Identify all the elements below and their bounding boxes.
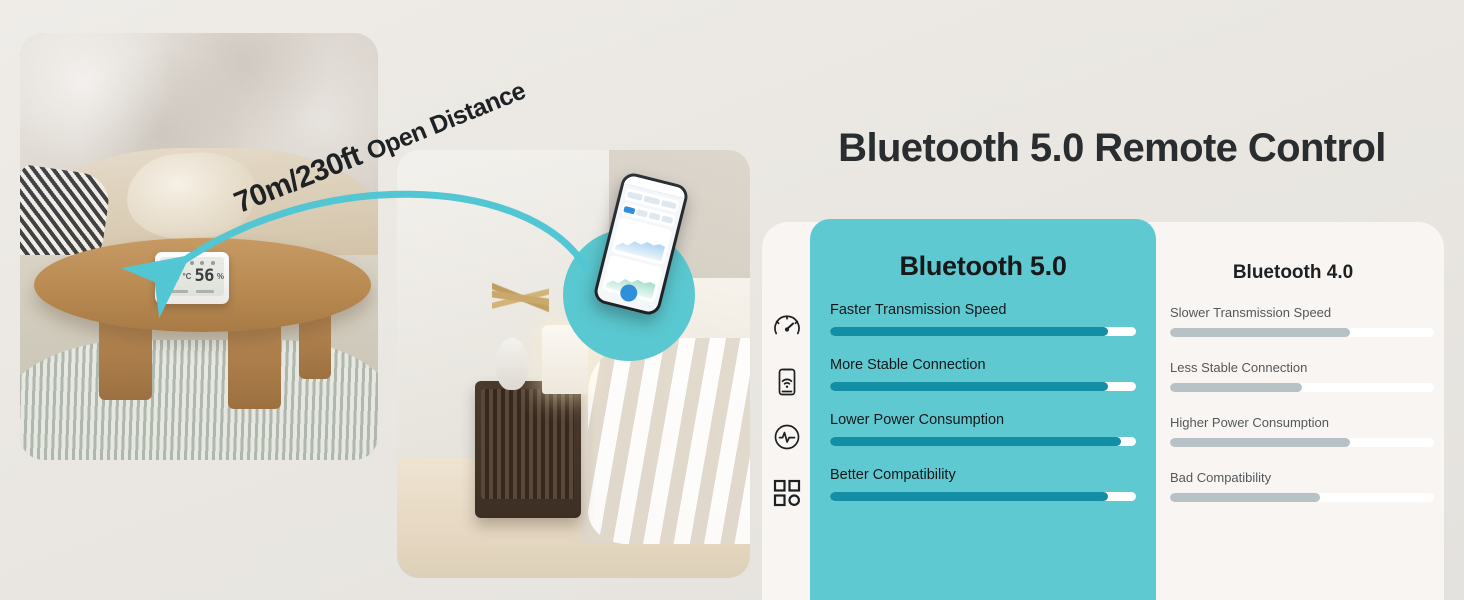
feature-row: Better Compatibility [830, 468, 1136, 523]
speedometer-icon [772, 312, 802, 342]
nightstand [475, 381, 581, 518]
feature-progress-fill [830, 382, 1108, 391]
feature-progress-track [1170, 493, 1434, 502]
feature-row: More Stable Connection [830, 358, 1136, 413]
feature-progress-track [830, 382, 1136, 391]
promo-stage: 28 °C 56 % [0, 0, 1464, 600]
bluetooth-4-title: Bluetooth 4.0 [1172, 262, 1414, 284]
feature-progress-fill [830, 327, 1108, 336]
feature-label: Slower Transmission Speed [1170, 306, 1434, 328]
page-title: Bluetooth 5.0 Remote Control [760, 126, 1464, 171]
pulse-circle-icon [772, 422, 802, 452]
feature-row: Bad Compatibility [1170, 471, 1434, 526]
feature-progress-track [830, 327, 1136, 336]
feature-progress-fill [1170, 383, 1302, 392]
bluetooth-5-title: Bluetooth 5.0 [810, 251, 1156, 282]
feature-progress-track [830, 437, 1136, 446]
feature-progress-track [1170, 328, 1434, 337]
phone-tab [661, 215, 673, 223]
bed-duvet [588, 338, 750, 543]
qr-grid-icon [772, 478, 802, 508]
feature-row: Less Stable Connection [1170, 361, 1434, 416]
feature-progress-track [1170, 438, 1434, 447]
bluetooth-5-feature-list: Faster Transmission Speed More Stable Co… [830, 303, 1136, 523]
feature-progress-fill [830, 437, 1121, 446]
feature-label: Bad Compatibility [1170, 471, 1434, 493]
feature-row: Faster Transmission Speed [830, 303, 1136, 358]
distance-arrow [100, 140, 660, 350]
feature-progress-track [830, 492, 1136, 501]
feature-row: Higher Power Consumption [1170, 416, 1434, 471]
feature-progress-fill [1170, 493, 1320, 502]
feature-progress-fill [1170, 328, 1350, 337]
feature-label: Lower Power Consumption [830, 413, 1136, 437]
bluetooth-4-feature-list: Slower Transmission Speed Less Stable Co… [1170, 306, 1434, 526]
phone-wifi-icon [772, 367, 802, 397]
feature-label: Less Stable Connection [1170, 361, 1434, 383]
feature-label: More Stable Connection [830, 358, 1136, 382]
phone-toolbar-chip [661, 200, 677, 210]
feature-progress-track [1170, 383, 1434, 392]
feature-row: Slower Transmission Speed [1170, 306, 1434, 361]
feature-progress-fill [1170, 438, 1350, 447]
feature-label: Higher Power Consumption [1170, 416, 1434, 438]
feature-row: Lower Power Consumption [830, 413, 1136, 468]
feature-icon-column [762, 222, 810, 600]
feature-label: Faster Transmission Speed [830, 303, 1136, 327]
feature-progress-fill [830, 492, 1108, 501]
feature-label: Better Compatibility [830, 468, 1136, 492]
nightstand-ribbing [481, 389, 574, 499]
